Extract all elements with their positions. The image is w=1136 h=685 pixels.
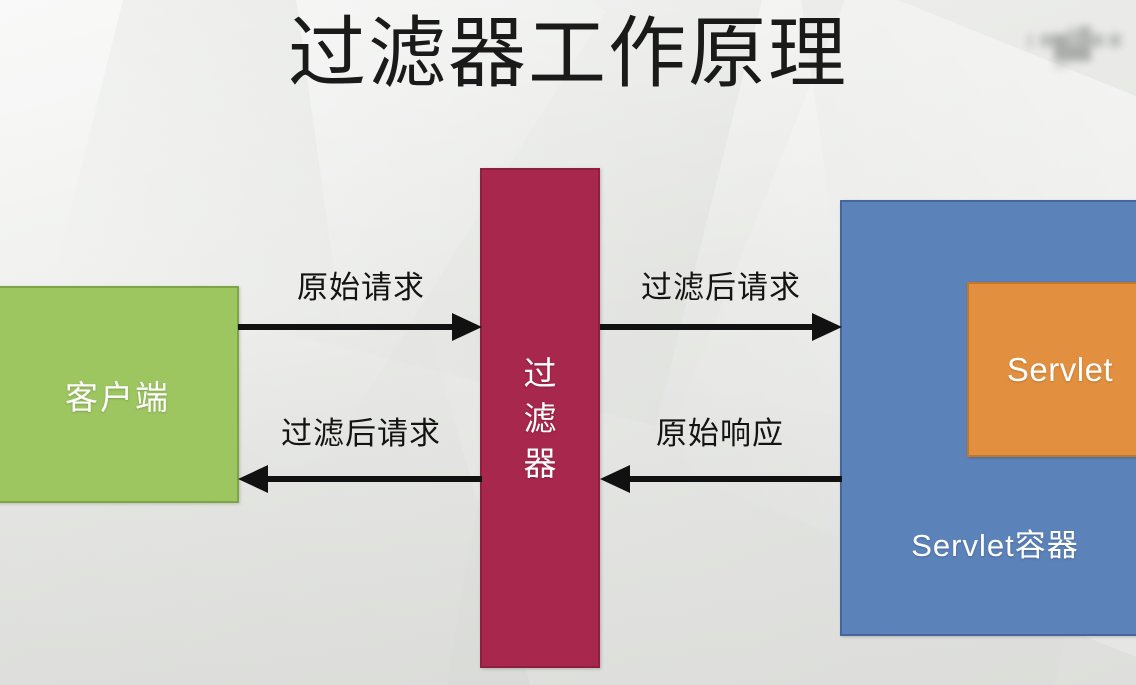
arrow-filter-to-client <box>238 462 482 496</box>
shape-servlet-container[interactable]: Servlet Servlet容器 <box>840 200 1136 636</box>
arrow-label-filter-to-client: 过滤后请求 <box>250 408 472 453</box>
servlet-label: Servlet <box>1007 351 1113 389</box>
arrow-label-filter-to-container: 过滤后请求 <box>612 262 830 307</box>
blurred-watermark <box>1028 20 1114 58</box>
arrow-client-to-filter <box>238 310 482 344</box>
arrow-label-container-to-filter: 原始响应 <box>614 408 826 453</box>
shape-client[interactable]: 客户端 <box>0 286 239 503</box>
arrow-filter-to-container <box>600 310 842 344</box>
client-label: 客户端 <box>65 371 170 419</box>
filter-label: 过滤器 <box>524 351 557 486</box>
servlet-container-label: Servlet容器 <box>842 520 1136 565</box>
arrow-container-to-filter <box>600 462 842 496</box>
slide-canvas: 过滤器工作原理 客户端 过滤器 Servlet Servlet容器 原始请求 <box>0 0 1136 685</box>
shape-filter[interactable]: 过滤器 <box>480 168 600 668</box>
arrow-label-client-to-filter: 原始请求 <box>256 262 466 307</box>
slide-title: 过滤器工作原理 <box>0 6 1136 100</box>
shape-servlet[interactable]: Servlet <box>967 282 1136 457</box>
